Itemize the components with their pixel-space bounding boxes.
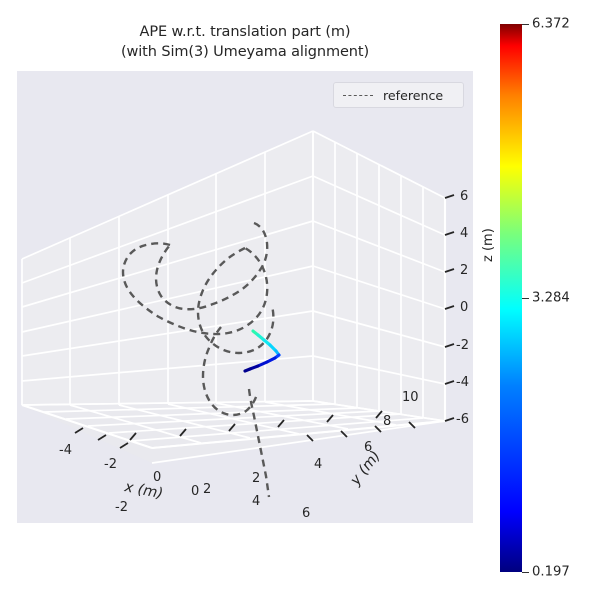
colorbar-gradient	[500, 24, 522, 572]
y-tick-label: 0	[191, 484, 199, 499]
z-tick-label: -4	[456, 375, 469, 390]
colorbar-tick-min	[522, 572, 529, 573]
x-tick-label: 2	[203, 482, 211, 497]
axes-3d-canvas: -4 -2 0 2 4 6 x (m) -2 0 2 4 6 8 10 y (m…	[17, 71, 473, 523]
y-tick-label: 10	[402, 390, 419, 405]
z-tick-label: 0	[460, 300, 468, 315]
z-axis-label: z (m)	[481, 228, 496, 262]
legend-label-reference: reference	[383, 88, 443, 103]
x-tick-label: 4	[252, 494, 260, 509]
matplotlib-figure: APE w.r.t. translation part (m) (with Si…	[0, 0, 600, 600]
legend-line-reference	[343, 95, 373, 96]
colorbar-label-mid: 3.284	[532, 291, 570, 306]
page-title: APE w.r.t. translation part (m) (with Si…	[17, 22, 473, 62]
z-tick-label: 6	[460, 189, 468, 204]
x-tick-label: -4	[59, 443, 72, 458]
plot-axes-3d[interactable]: -4 -2 0 2 4 6 x (m) -2 0 2 4 6 8 10 y (m…	[17, 71, 473, 523]
x-tick-label: 0	[153, 470, 161, 485]
y-tick-label: 4	[314, 457, 322, 472]
z-axis-ticks	[445, 195, 454, 421]
z-tick-label: 2	[460, 263, 468, 278]
y-tick-label: 2	[252, 471, 260, 486]
x-tick-label: 6	[302, 506, 310, 521]
colorbar-tick-mid	[522, 298, 529, 299]
colorbar-label-max: 6.372	[532, 17, 570, 32]
y-tick-label: 8	[383, 414, 391, 429]
x-tick-label: -2	[104, 457, 117, 472]
colorbar-label-min: 0.197	[532, 565, 570, 580]
y-axis-label: y (m)	[347, 448, 384, 489]
colorbar-tick-max	[522, 24, 529, 25]
y-tick-label: -2	[115, 500, 128, 515]
z-tick-label: -2	[456, 338, 469, 353]
colorbar[interactable]: 6.372 3.284 0.197	[500, 24, 522, 572]
z-tick-label: 4	[460, 226, 468, 241]
z-tick-labels: 6 4 2 0 -2 -4 -6	[456, 189, 469, 427]
legend[interactable]: reference	[333, 82, 464, 108]
z-tick-label: -6	[456, 412, 469, 427]
